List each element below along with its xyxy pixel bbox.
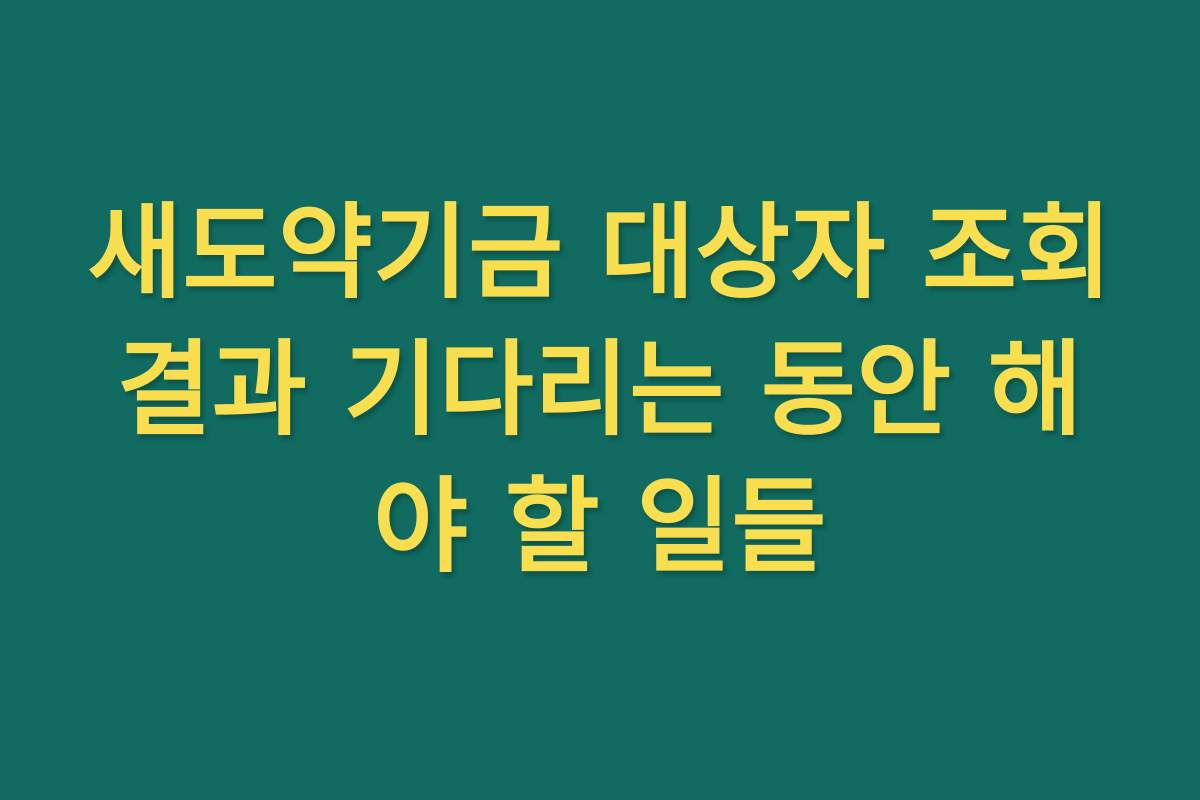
headline-line-3: 야 할 일들 bbox=[70, 459, 1130, 596]
headline-line-2: 결과 기다리는 동안 해 bbox=[70, 322, 1130, 459]
thumbnail-card: 새도약기금 대상자 조회 결과 기다리는 동안 해 야 할 일들 bbox=[0, 0, 1200, 800]
headline-block: 새도약기금 대상자 조회 결과 기다리는 동안 해 야 할 일들 bbox=[70, 185, 1130, 596]
headline-line-1: 새도약기금 대상자 조회 bbox=[70, 185, 1130, 322]
